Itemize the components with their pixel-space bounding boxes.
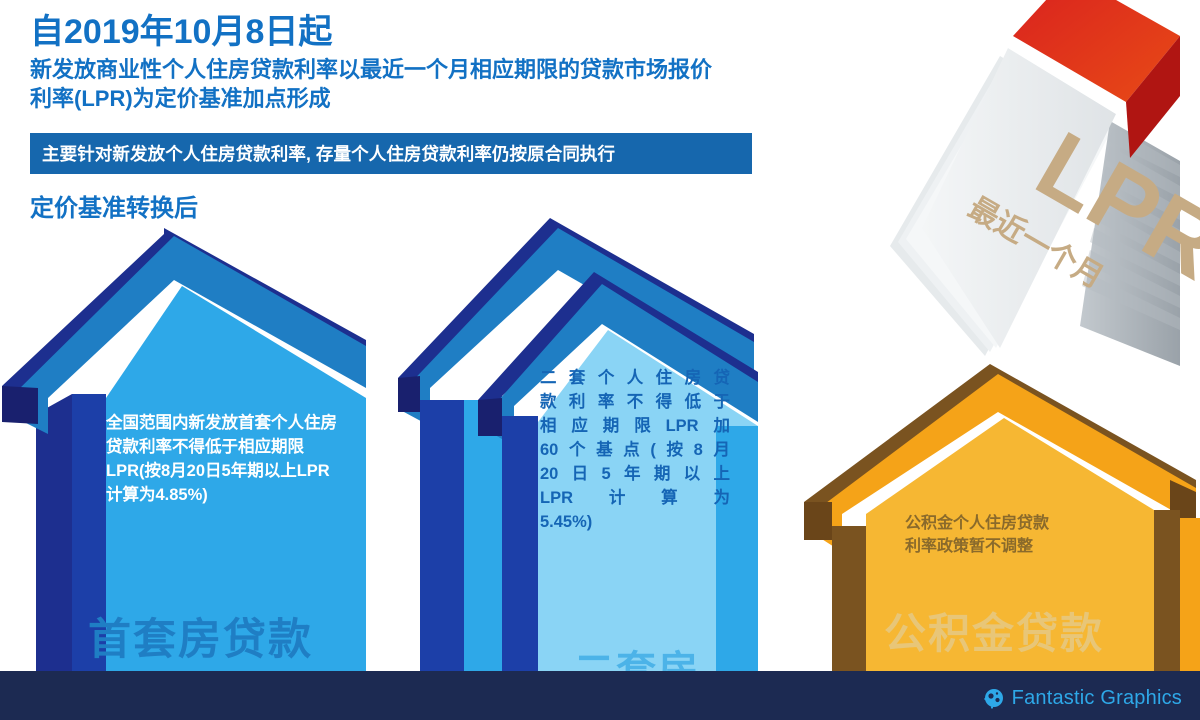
h2-line: 二套个人住房贷: [540, 366, 730, 390]
brand-name: Fantastic Graphics: [1012, 687, 1182, 710]
h2-line: 60个基点(按8月: [540, 438, 730, 462]
brand-block: Fantastic Graphics: [983, 686, 1182, 710]
house3-roof-endcap-left: [804, 502, 832, 540]
h2-line: 20日5年期以上: [540, 462, 730, 486]
section-label: 定价基准转换后: [30, 188, 198, 223]
header-block: 自2019年10月8日起 新发放商业性个人住房贷款利率以最近一个月相应期限的贷款…: [30, 14, 790, 114]
h2-line: LPR计算为: [540, 486, 730, 510]
house-housing-fund-label: 公积金贷款: [884, 612, 1104, 656]
lpr-notepad-illustration: LPR 最近一个月: [880, 0, 1200, 396]
house3-pillar-left: [832, 526, 866, 672]
house-first-home-label: 首套房贷款: [88, 618, 313, 663]
h2-line: 相应期限LPR加: [540, 414, 730, 438]
house-housing-fund-text: 公积金个人住房贷款 利率政策暂不调整: [905, 512, 1145, 559]
highlight-banner-text: 主要针对新发放个人住房贷款利率, 存量个人住房贷款利率仍按原合同执行: [30, 141, 615, 166]
house2-front-pillar: [502, 416, 538, 672]
house1-roof-endcap: [2, 386, 38, 424]
page-subtitle: 新发放商业性个人住房贷款利率以最近一个月相应期限的贷款市场报价利率(LPR)为定…: [30, 55, 730, 114]
house2-back-pillar-left: [420, 400, 464, 672]
house2-front-roof-endcap: [478, 398, 502, 436]
gear-circle-icon: [983, 687, 1005, 709]
house-second-home-text: 二套个人住房贷 款利率不得低于 相应期限LPR加 60个基点(按8月 20日5年…: [540, 366, 730, 535]
house1-side-wall: [36, 394, 72, 672]
h3-line: 利率政策暂不调整: [905, 535, 1145, 558]
page-title: 自2019年10月8日起: [30, 14, 790, 51]
highlight-banner: 主要针对新发放个人住房贷款利率, 存量个人住房贷款利率仍按原合同执行: [30, 133, 752, 174]
house2-back-face-strip: [464, 400, 502, 672]
house-first-home-text: 全国范围内新发放首套个人住房贷款利率不得低于相应期限LPR(按8月20日5年期以…: [106, 411, 338, 507]
h2-line: 5.45%): [540, 510, 730, 534]
infographic-canvas: 自2019年10月8日起 新发放商业性个人住房贷款利率以最近一个月相应期限的贷款…: [0, 0, 1200, 720]
house3-right-strip: [1180, 518, 1200, 672]
h3-line: 公积金个人住房贷款: [905, 512, 1145, 535]
h2-line: 款利率不得低于: [540, 390, 730, 414]
house2-back-roof-endcap: [398, 376, 420, 412]
